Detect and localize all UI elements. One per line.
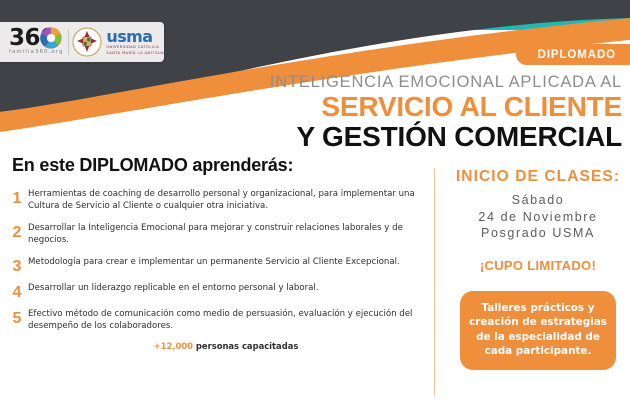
- class-info-column: INICIO DE CLASES: Sábado 24 de Noviembre…: [446, 168, 630, 370]
- usma-wordmark: usma UNIVERSIDAD CATÓLICA SANTA MARÍA LA…: [106, 29, 164, 55]
- usma-subline-1: UNIVERSIDAD CATÓLICA: [106, 46, 164, 50]
- familia360-tagline: familia360.org: [9, 49, 64, 55]
- benefit-text: Herramientas de coaching de desarrollo p…: [26, 188, 416, 213]
- trained-people-count: +12,000: [154, 341, 193, 351]
- color-wheel-icon: [40, 27, 62, 49]
- usma-logo[interactable]: usma UNIVERSIDAD CATÓLICA SANTA MARÍA LA…: [72, 27, 164, 57]
- benefit-number: 3: [8, 256, 26, 273]
- class-day: Sábado: [446, 192, 630, 209]
- usma-crest-icon: [72, 27, 102, 57]
- class-date: 24 de Noviembre: [446, 209, 630, 226]
- benefits-heading: En este DIPLOMADO aprenderás:: [12, 155, 430, 176]
- benefit-text: Efectivo método de comunicación como med…: [26, 308, 416, 333]
- usma-subline-2: SANTA MARÍA LA ANTIGUA: [106, 52, 164, 56]
- usma-wordmark-text: usma: [106, 29, 164, 45]
- diplomado-badge-label: DIPLOMADO: [538, 49, 616, 61]
- benefit-text: Desarrollar un liderazgo replicable en e…: [26, 282, 319, 294]
- list-item: 3 Metodología para crear e implementar u…: [8, 256, 416, 273]
- benefit-number: 1: [8, 188, 26, 205]
- trained-people-footer: +12,000 personas capacitadas: [0, 341, 430, 351]
- headline-line-1: SERVICIO AL CLIENTE: [270, 92, 622, 122]
- benefit-number: 2: [8, 222, 26, 239]
- class-location: Posgrado USMA: [446, 225, 630, 242]
- logo-plate: 360 familia360.org: [0, 22, 164, 62]
- list-item: 5 Efectivo método de comunicación como m…: [8, 308, 416, 333]
- benefit-number: 4: [8, 282, 26, 299]
- headline-kicker: INTELIGENCIA EMOCIONAL APLICADA AL: [270, 72, 622, 92]
- class-start-heading: INICIO DE CLASES:: [446, 168, 630, 186]
- promo-poster: 360 familia360.org: [0, 0, 630, 400]
- list-item: 1 Herramientas de coaching de desarrollo…: [8, 188, 416, 213]
- benefits-column: En este DIPLOMADO aprenderás: 1 Herramie…: [0, 155, 430, 400]
- column-divider: [434, 168, 435, 396]
- headline-line-2: Y GESTIÓN COMERCIAL: [270, 122, 622, 152]
- familia360-logo[interactable]: 360 familia360.org: [9, 26, 66, 58]
- benefit-text: Desarrollar la Inteligencia Emocional pa…: [26, 222, 416, 247]
- benefit-text: Metodología para crear e implementar un …: [26, 256, 400, 268]
- logo-separator: [68, 29, 69, 55]
- list-item: 2 Desarrollar la Inteligencia Emocional …: [8, 222, 416, 247]
- list-item: 4 Desarrollar un liderazgo replicable en…: [8, 282, 416, 299]
- trained-people-label: personas capacitadas: [193, 341, 298, 351]
- headline-block: INTELIGENCIA EMOCIONAL APLICADA AL SERVI…: [270, 72, 622, 152]
- benefit-number: 5: [8, 308, 26, 325]
- limited-seats-notice: ¡CUPO LIMITADO!: [446, 258, 630, 273]
- workshops-callout: Talleres prácticos y creación de estrate…: [460, 291, 616, 370]
- diplomado-badge: DIPLOMADO: [516, 44, 630, 65]
